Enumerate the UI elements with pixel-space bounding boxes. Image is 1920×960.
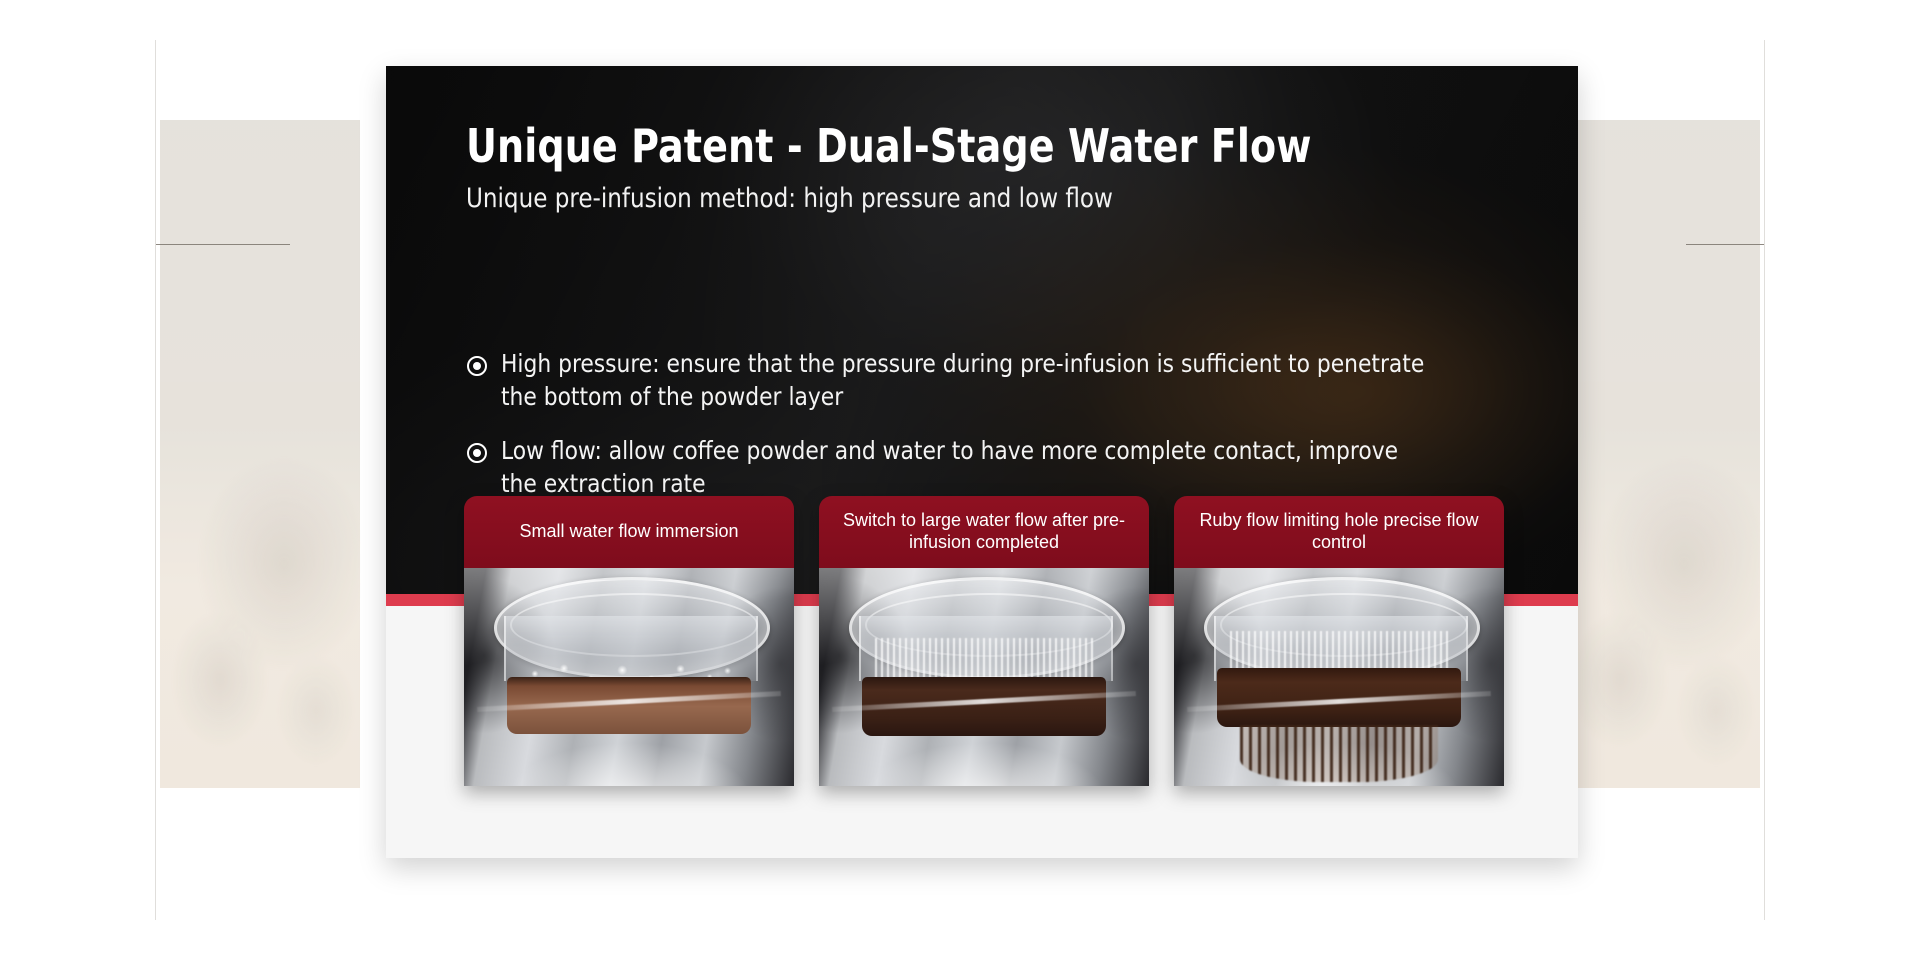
card-caption-text: Ruby flow limiting hole precise flow con… (1186, 510, 1492, 554)
card-caption-bar: Small water flow immersion (464, 496, 794, 568)
page-root: Unique Patent - Dual-Stage Water Flow Un… (0, 0, 1920, 960)
bullet-text: High pressure: ensure that the pressure … (501, 348, 1432, 413)
background-artwork-left (160, 401, 360, 788)
bullet-item: High pressure: ensure that the pressure … (466, 348, 1476, 413)
slide-heading-block: Unique Patent - Dual-Stage Water Flow Un… (466, 121, 1476, 215)
card-caption-bar: Switch to large water flow after pre-inf… (819, 496, 1149, 568)
feature-card[interactable]: Ruby flow limiting hole precise flow con… (1174, 496, 1504, 786)
background-panel-left (160, 120, 360, 788)
bullseye-bullet-icon (466, 442, 488, 464)
slide: Unique Patent - Dual-Stage Water Flow Un… (386, 66, 1578, 858)
portafilter-render-small-flow (464, 568, 794, 786)
bullseye-bullet-icon (466, 355, 488, 377)
background-panel-right (1560, 120, 1760, 788)
feature-card[interactable]: Small water flow immersion (464, 496, 794, 786)
bullet-text: Low flow: allow coffee powder and water … (501, 435, 1432, 500)
page-subtitle: Unique pre-infusion method: high pressur… (466, 183, 1426, 215)
portafilter-render-ruby-hole (1174, 568, 1504, 786)
background-artwork-right (1560, 401, 1760, 788)
portafilter-render-large-flow (819, 568, 1149, 786)
bullet-item: Low flow: allow coffee powder and water … (466, 435, 1476, 500)
page-title: Unique Patent - Dual-Stage Water Flow (466, 121, 1395, 172)
card-caption-text: Small water flow immersion (519, 521, 738, 543)
background-vertical-rule-right (1764, 40, 1765, 920)
bullet-list: High pressure: ensure that the pressure … (466, 348, 1476, 500)
card-gallery: Small water flow immersion Switch to la (464, 496, 1504, 786)
card-image (464, 568, 794, 786)
feature-card[interactable]: Switch to large water flow after pre-inf… (819, 496, 1149, 786)
background-vertical-rule-left (155, 40, 156, 920)
card-caption-bar: Ruby flow limiting hole precise flow con… (1174, 496, 1504, 568)
card-image (819, 568, 1149, 786)
background-horizontal-rule-right (1686, 244, 1764, 245)
card-image (1174, 568, 1504, 786)
background-horizontal-rule-left (156, 244, 290, 245)
card-caption-text: Switch to large water flow after pre-inf… (831, 510, 1137, 554)
